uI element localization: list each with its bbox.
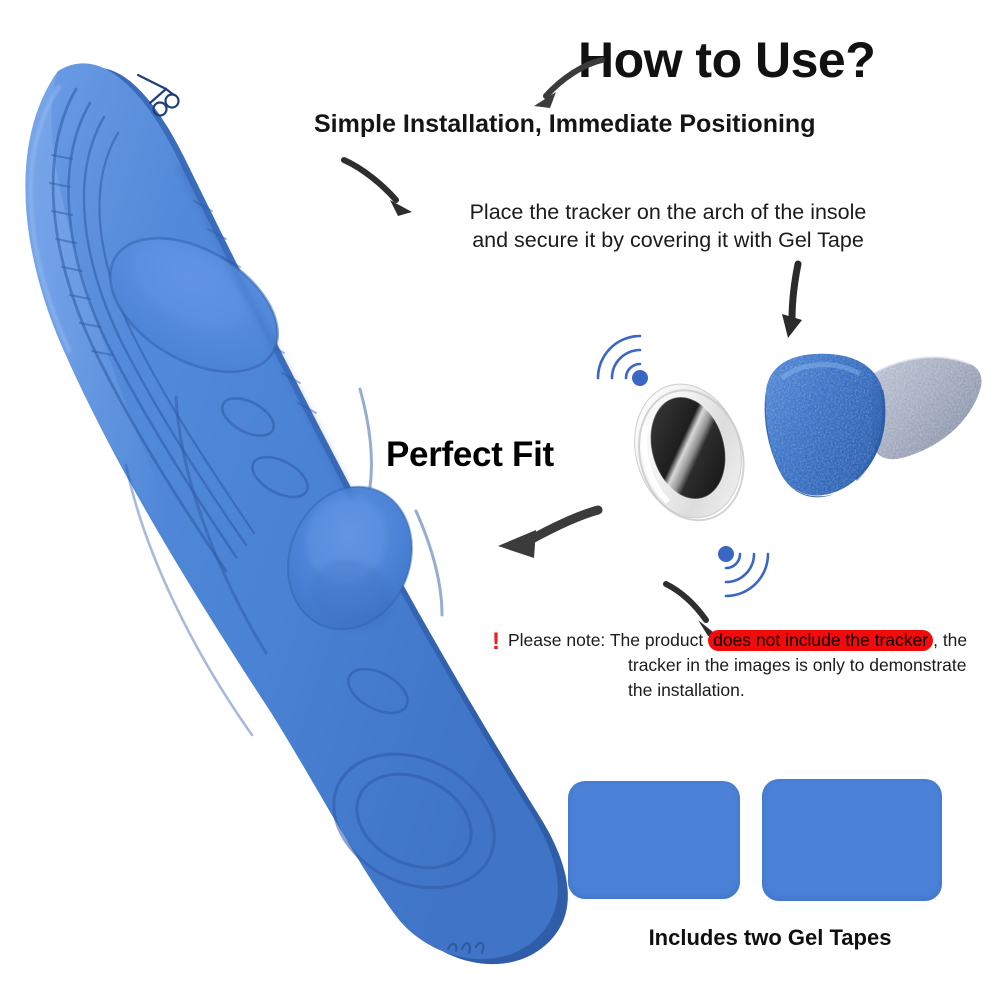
gel-tape-left — [568, 781, 740, 899]
shoe-insole — [0, 5, 600, 995]
note-line-3: the installation. — [508, 678, 992, 703]
note-suffix: , the — [933, 630, 967, 650]
note-prefix: Please note: The product — [508, 630, 708, 650]
arrow-to-insole-icon — [494, 502, 604, 564]
gel-tapes-caption: Includes two Gel Tapes — [560, 925, 980, 951]
exclamation-icon: ! — [492, 630, 503, 654]
arrow-to-instruction-icon — [336, 152, 422, 218]
arrow-to-title-icon — [528, 52, 608, 116]
note-line-2: tracker in the images is only to demonst… — [508, 653, 992, 678]
note-line-1: Please note: The product does not includ… — [508, 628, 992, 653]
instruction-line-1: Place the tracker on the arch of the ins… — [470, 200, 867, 224]
instruction-text: Place the tracker on the arch of the ins… — [408, 198, 928, 255]
curved-gel-tape — [744, 330, 994, 510]
page-title: How to Use? — [578, 34, 978, 87]
infographic-page: How to Use? Simple Installation, Immedia… — [0, 0, 1000, 1000]
perfect-fit-label: Perfect Fit — [386, 435, 554, 475]
note-highlight: does not include the tracker — [708, 630, 933, 651]
arrow-to-tape-icon — [768, 258, 828, 340]
product-note: ! Please note: The product does not incl… — [492, 628, 992, 703]
instruction-line-2: and secure it by covering it with Gel Ta… — [472, 228, 864, 252]
gel-tape-right — [762, 779, 942, 901]
bluetooth-tracker — [618, 378, 758, 523]
page-subtitle: Simple Installation, Immediate Positioni… — [314, 110, 914, 139]
